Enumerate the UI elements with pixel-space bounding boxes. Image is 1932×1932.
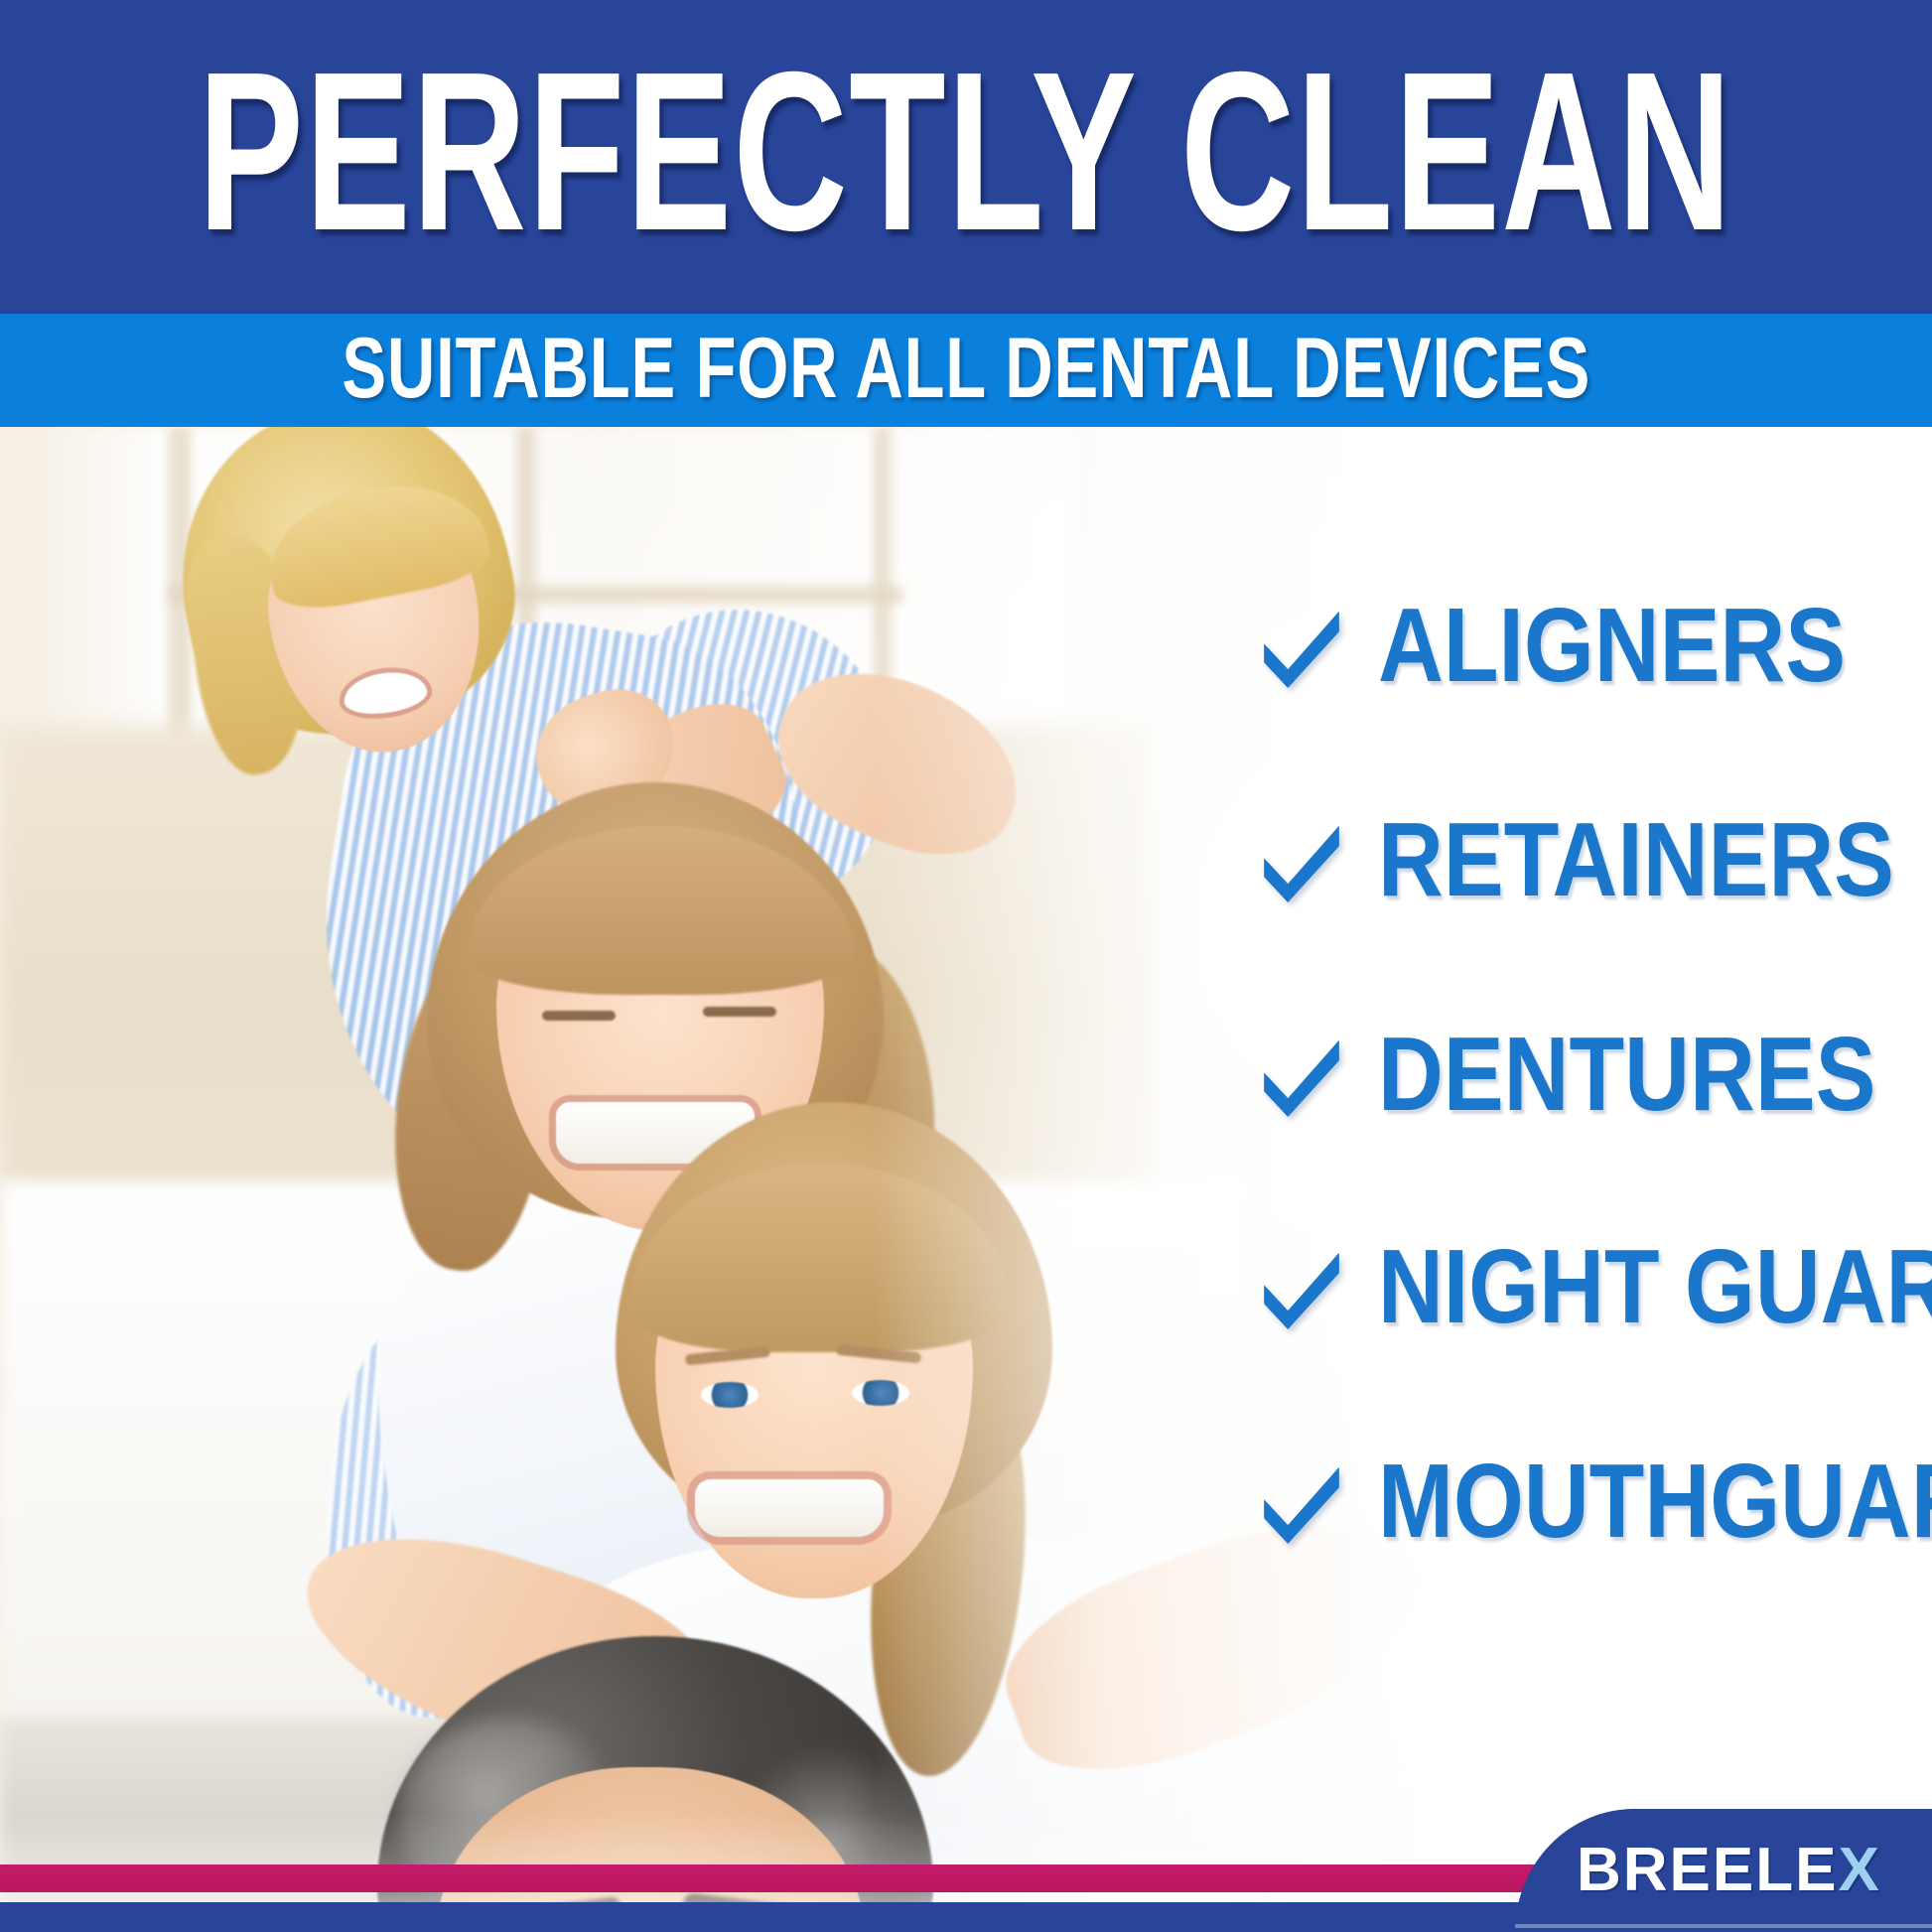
brand-logo-accent-letter: X xyxy=(1838,1836,1880,1904)
list-item[interactable]: ALIGNERS xyxy=(1259,586,1922,705)
check-mark-icon xyxy=(1259,1458,1344,1544)
brand-logo-block[interactable]: BREELEX xyxy=(1515,1809,1932,1932)
boy-left-eye xyxy=(542,1011,616,1021)
check-mark-icon xyxy=(1259,1032,1344,1117)
list-item[interactable]: NIGHT GUARDS xyxy=(1259,1227,1932,1346)
list-item-label: DENTURES xyxy=(1378,1022,1875,1127)
device-compatibility-list: ALIGNERS RETAINERS DENTURES NIGHT GUARDS xyxy=(1259,586,1932,1579)
page-subtitle: SUITABLE FOR ALL DENTAL DEVICES xyxy=(342,326,1590,415)
brand-logo-text: BREELEX xyxy=(1577,1840,1881,1901)
subheadline-band: SUITABLE FOR ALL DENTAL DEVICES xyxy=(0,314,1932,427)
check-mark-icon xyxy=(1259,603,1344,688)
list-item-label: NIGHT GUARDS xyxy=(1378,1234,1932,1339)
page-title: PERFECTLY CLEAN xyxy=(199,60,1733,255)
check-mark-icon xyxy=(1259,817,1344,902)
list-item[interactable]: RETAINERS xyxy=(1259,800,1932,919)
brand-logo-main: BREELE xyxy=(1577,1836,1838,1904)
list-item-label: RETAINERS xyxy=(1378,807,1894,912)
woman-left-eye xyxy=(701,1382,759,1408)
list-item-label: ALIGNERS xyxy=(1378,593,1846,698)
headline-band: PERFECTLY CLEAN xyxy=(0,0,1932,314)
list-item[interactable]: MOUTHGUARDS xyxy=(1259,1442,1932,1561)
list-item-label: MOUTHGUARDS xyxy=(1378,1449,1932,1554)
check-mark-icon xyxy=(1259,1244,1344,1329)
product-marketing-poster: PERFECTLY CLEAN SUITABLE FOR ALL DENTAL … xyxy=(0,0,1932,1932)
woman-smile xyxy=(695,1479,884,1537)
list-item[interactable]: DENTURES xyxy=(1259,1015,1932,1134)
logo-underline xyxy=(1515,1924,1932,1928)
boy-right-eye xyxy=(703,1007,776,1017)
